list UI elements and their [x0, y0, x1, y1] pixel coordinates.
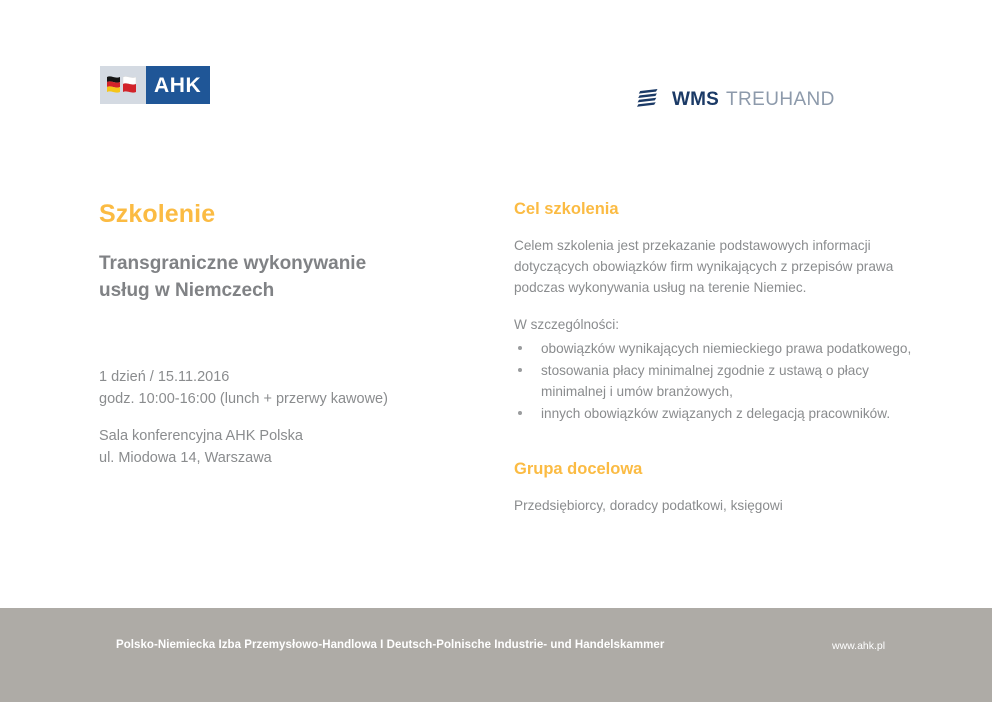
- list-item: stosowania płacy minimalnej zgodnie z us…: [514, 360, 914, 402]
- list-item-label: innych obowiązków związanych z delegacją…: [541, 406, 890, 421]
- ahk-logo[interactable]: AHK: [100, 66, 210, 104]
- bullets-lead: W szczególności:: [514, 314, 914, 335]
- left-column: Szkolenie Transgraniczne wykonywanie usł…: [99, 200, 459, 305]
- bullet-dot-icon: [518, 368, 522, 372]
- right-column: Cel szkolenia Celem szkolenia jest przek…: [514, 200, 914, 516]
- footer-website-link[interactable]: www.ahk.pl: [832, 640, 885, 652]
- bullet-dot-icon: [518, 346, 522, 350]
- bullet-dot-icon: [518, 411, 522, 415]
- audience-body: Przedsiębiorcy, doradcy podatkowi, księg…: [514, 495, 914, 516]
- event-date: 1 dzień / 15.11.2016: [99, 369, 229, 385]
- event-time: godz. 10:00-16:00 (lunch + przerwy kawow…: [99, 391, 388, 407]
- footer-organisation: Polsko-Niemiecka Izba Przemysłowo-Handlo…: [116, 639, 664, 651]
- ahk-wordmark: AHK: [146, 66, 210, 104]
- venue-address: ul. Miodowa 14, Warszawa: [99, 450, 272, 466]
- page-title: Transgraniczne wykonywanie usług w Niemc…: [99, 251, 409, 305]
- wms-name: WMS: [672, 90, 719, 109]
- audience-heading: Grupa docelowa: [514, 460, 914, 480]
- wms-subname: TREUHAND: [726, 90, 835, 109]
- goal-bullet-list: obowiązków wynikających niemieckiego pra…: [514, 338, 914, 425]
- german-polish-flags-icon: [106, 73, 140, 97]
- ahk-flag-panel: [100, 66, 146, 104]
- goal-heading: Cel szkolenia: [514, 200, 914, 220]
- wms-treuhand-logo[interactable]: WMS TREUHAND: [637, 86, 835, 112]
- event-venue: Sala konferencyjna AHK Polska ul. Miodow…: [99, 425, 479, 469]
- event-details: 1 dzień / 15.11.2016 godz. 10:00-16:00 (…: [99, 366, 479, 469]
- venue-name: Sala konferencyjna AHK Polska: [99, 428, 303, 444]
- slanted-bars-icon: [637, 88, 661, 110]
- event-schedule: 1 dzień / 15.11.2016 godz. 10:00-16:00 (…: [99, 366, 479, 410]
- list-item-label: stosowania płacy minimalnej zgodnie z us…: [541, 363, 869, 399]
- eyebrow-title: Szkolenie: [99, 200, 459, 229]
- list-item: obowiązków wynikających niemieckiego pra…: [514, 338, 914, 359]
- footer-bar: Polsko-Niemiecka Izba Przemysłowo-Handlo…: [0, 608, 992, 702]
- goal-body: Celem szkolenia jest przekazanie podstaw…: [514, 235, 914, 299]
- list-item-label: obowiązków wynikających niemieckiego pra…: [541, 341, 911, 356]
- flyer-page: AHK WMS TREUHAND Szkolenie Transgraniczn…: [0, 0, 992, 702]
- list-item: innych obowiązków związanych z delegacją…: [514, 403, 914, 424]
